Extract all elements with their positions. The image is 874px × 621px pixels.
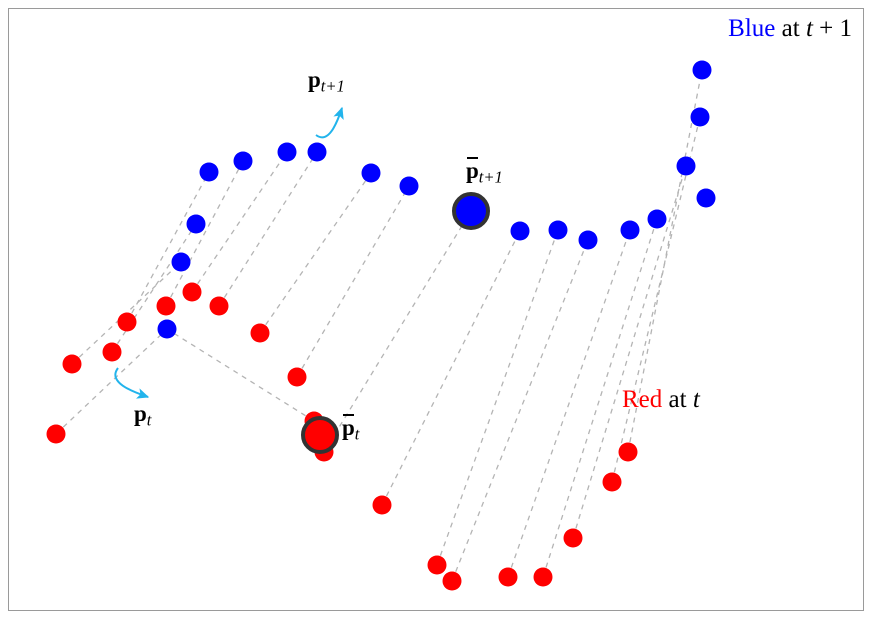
legend-red-var: t xyxy=(693,386,700,413)
point-next-subscript: t+1 xyxy=(321,77,345,96)
legend-blue-var: t xyxy=(806,15,813,42)
legend-blue-plus: + 1 xyxy=(813,15,852,42)
red-data-point xyxy=(373,496,392,515)
correspondence-line xyxy=(437,230,558,565)
red-data-point xyxy=(63,355,82,374)
scatter-plot-canvas xyxy=(0,0,874,621)
correspondence-line xyxy=(219,152,317,306)
label-point-t-plus-1: pt+1 xyxy=(308,68,345,95)
red-data-point xyxy=(103,343,122,362)
centroid-next-symbol: p xyxy=(466,159,479,182)
blue-data-point xyxy=(648,210,667,229)
legend-blue-word: Blue xyxy=(728,15,775,42)
red-data-point xyxy=(499,568,518,587)
correspondence-line xyxy=(452,240,588,581)
arrow-to-p-curr xyxy=(115,368,148,397)
legend-red-at-t: Red at t xyxy=(622,387,700,412)
blue-data-point xyxy=(677,157,696,176)
point-curr-subscript: t xyxy=(147,411,152,430)
red-data-point xyxy=(157,297,176,316)
red-data-point xyxy=(183,283,202,302)
red-data-point xyxy=(428,556,447,575)
blue-data-point xyxy=(187,215,206,234)
blue-data-point xyxy=(693,61,712,80)
point-curr-symbol: p xyxy=(134,401,147,426)
legend-red-word: Red xyxy=(622,386,662,413)
blue-data-point xyxy=(691,108,710,127)
legend-red-rest: at xyxy=(662,386,693,413)
red-data-point xyxy=(619,443,638,462)
label-centroid-t-plus-1: pt+1 xyxy=(466,159,503,186)
blue-data-point xyxy=(549,221,568,240)
legend-blue-at-t-plus-1: Blue at t + 1 xyxy=(728,16,852,41)
blue-data-point xyxy=(278,143,297,162)
centroid-curr-subscript: t xyxy=(355,425,360,444)
blue-data-point xyxy=(308,143,327,162)
centroid-marker-p_bar_t+1 xyxy=(454,194,488,228)
correspondence-line xyxy=(260,173,371,333)
red-data-point xyxy=(534,568,553,587)
centroid-curr-symbol: p xyxy=(342,416,355,439)
correspondence-line xyxy=(297,186,409,377)
correspondence-line xyxy=(508,230,630,577)
centroid-marker-p_bar_t xyxy=(303,418,337,452)
red-data-point xyxy=(251,324,270,343)
correspondence-line xyxy=(382,231,520,505)
red-data-point xyxy=(603,473,622,492)
label-point-t: pt xyxy=(134,402,151,429)
blue-data-point xyxy=(200,163,219,182)
arrow-to-p-next xyxy=(316,108,342,137)
blue-data-point xyxy=(362,164,381,183)
blue-data-point xyxy=(511,222,530,241)
blue-data-point xyxy=(621,221,640,240)
blue-data-point xyxy=(697,189,716,208)
legend-blue-rest: at xyxy=(775,15,806,42)
label-centroid-t: pt xyxy=(342,416,359,443)
red-data-point xyxy=(118,313,137,332)
red-data-point xyxy=(288,368,307,387)
red-data-point xyxy=(210,297,229,316)
blue-data-point xyxy=(234,152,253,171)
blue-data-point xyxy=(579,231,598,250)
red-data-point xyxy=(443,572,462,591)
blue-data-point xyxy=(400,177,419,196)
red-data-point xyxy=(564,529,583,548)
point-next-symbol: p xyxy=(308,67,321,92)
red-data-point xyxy=(47,425,66,444)
blue-data-point xyxy=(158,320,177,339)
centroid-markers-group xyxy=(303,194,488,452)
centroid-next-subscript: t+1 xyxy=(479,168,503,187)
blue-data-point xyxy=(172,253,191,272)
figure-root: Blue at t + 1 Red at t pt+1 pt pt+1 pt xyxy=(0,0,874,621)
